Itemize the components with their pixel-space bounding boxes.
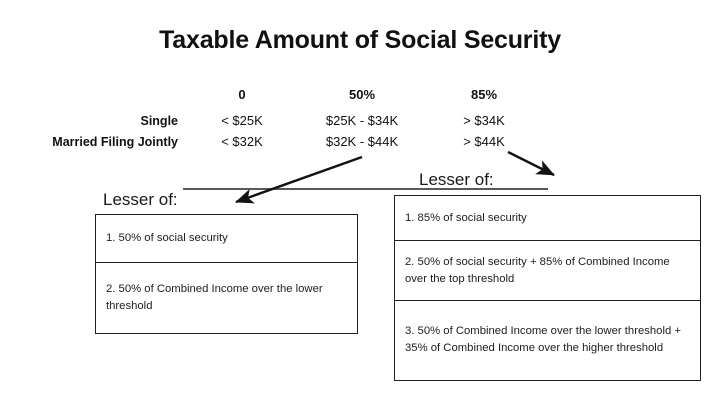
right-option-item-1: 1. 85% of social security [395,196,700,240]
left-group-heading: Lesser of: [103,190,178,210]
left-option-item-2: 2. 50% of Combined Income over the lower… [96,262,357,332]
page-title: Taxable Amount of Social Security [0,26,720,55]
arrow-to-left-group [236,157,362,202]
row-label-single: Single [0,114,183,128]
threshold-table: 0 50% 85% Single < $25K $25K - $34K > $3… [0,84,560,152]
table-row: Single < $25K $25K - $34K > $34K [0,110,560,131]
right-group-heading: Lesser of: [419,170,494,190]
cell-single-50: $25K - $34K [301,113,423,128]
left-option-item-1: 1. 50% of social security [96,215,357,262]
row-label-married-filing-jointly: Married Filing Jointly [0,135,183,149]
column-header-0: 0 [183,87,301,102]
column-header-50: 50% [301,87,423,102]
cell-mfj-0: < $32K [183,134,301,149]
table-header-row: 0 50% 85% [0,84,560,105]
column-header-85: 85% [423,87,545,102]
cell-mfj-85: > $44K [423,134,545,149]
right-option-item-2: 2. 50% of social security + 85% of Combi… [395,240,700,300]
arrow-to-right-group [508,152,554,175]
right-option-item-3: 3. 50% of Combined Income over the lower… [395,300,700,378]
cell-mfj-50: $32K - $44K [301,134,423,149]
diagram-canvas: Taxable Amount of Social Security 0 50% … [0,0,720,404]
right-option-box: 1. 85% of social security 2. 50% of soci… [394,195,701,381]
cell-single-0: < $25K [183,113,301,128]
left-option-box: 1. 50% of social security 2. 50% of Comb… [95,214,358,334]
table-row: Married Filing Jointly < $32K $32K - $44… [0,131,560,152]
cell-single-85: > $34K [423,113,545,128]
